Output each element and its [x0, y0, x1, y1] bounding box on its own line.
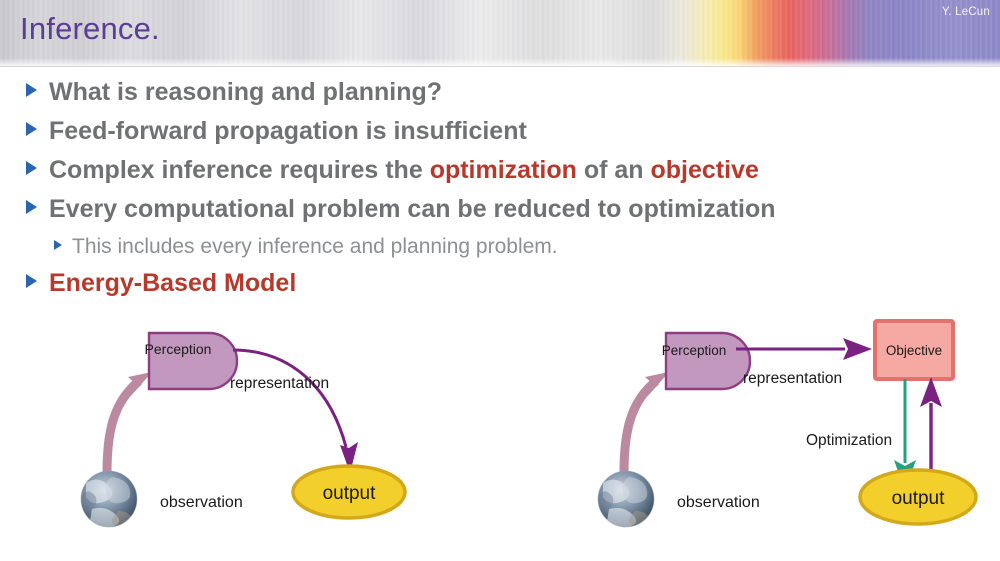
- bullet-text: Complex inference requires the optimizat…: [49, 152, 759, 189]
- node-perception-label: Perception: [145, 341, 212, 357]
- node-output[interactable]: output: [293, 466, 405, 518]
- bullet-item: Every computational problem can be reduc…: [0, 191, 1000, 228]
- representation-label: representation: [743, 370, 842, 387]
- author-credit: Y. LeCun: [942, 6, 990, 18]
- bullet-item: This includes every inference and planni…: [0, 230, 1000, 263]
- bullet-item: Energy-Based Model: [0, 265, 1000, 302]
- bullet-list: What is reasoning and planning?Feed-forw…: [0, 74, 1000, 304]
- node-objective[interactable]: Objective: [875, 321, 953, 379]
- bullet-triangle-icon: [26, 274, 37, 288]
- bullet-triangle-icon: [26, 161, 37, 175]
- bullet-text-segment: Energy-Based Model: [49, 269, 296, 297]
- header-divider: [0, 66, 1000, 67]
- representation-arrow: [233, 350, 358, 473]
- bullet-text: What is reasoning and planning?: [49, 74, 442, 111]
- bullet-text-segment: What is reasoning and planning?: [49, 78, 442, 106]
- bullet-text: Feed-forward propagation is insufficient: [49, 113, 527, 150]
- representation-arrow: [736, 338, 872, 360]
- bullet-text: This includes every inference and planni…: [72, 230, 558, 263]
- bullet-triangle-icon: [26, 83, 37, 97]
- bullet-item: What is reasoning and planning?: [0, 74, 1000, 111]
- node-perception-label: Perception: [662, 343, 727, 358]
- node-perception[interactable]: Perception: [662, 333, 750, 389]
- earth-globe-icon: [597, 471, 654, 529]
- observation-to-perception-arrow: [107, 372, 152, 473]
- earth-globe-icon: [80, 471, 137, 529]
- node-output[interactable]: output: [860, 470, 976, 524]
- bullet-text-segment: of an: [577, 156, 651, 184]
- bullet-triangle-icon: [26, 200, 37, 214]
- optimization-label: Optimization: [806, 432, 892, 449]
- page-title: Inference.: [20, 13, 160, 44]
- energy-based-inference-diagram: Perception representation Objective Opti…: [500, 305, 1000, 561]
- representation-label: representation: [230, 375, 329, 392]
- node-objective-label: Objective: [886, 343, 942, 358]
- bullet-text-segment: Complex inference requires the: [49, 156, 430, 184]
- bullet-text: Every computational problem can be reduc…: [49, 191, 776, 228]
- observation-label: observation: [677, 494, 760, 511]
- bullet-text-segment: Feed-forward propagation is insufficient: [49, 117, 527, 145]
- bullet-text: Energy-Based Model: [49, 265, 296, 302]
- observation-label: observation: [160, 494, 243, 511]
- bullet-item: Complex inference requires the optimizat…: [0, 152, 1000, 189]
- bullet-text-segment: objective: [651, 156, 759, 184]
- banner-bottom-fade: [0, 58, 1000, 66]
- node-output-label: output: [892, 488, 946, 509]
- bullet-text-segment: Every computational problem can be reduc…: [49, 195, 776, 223]
- bullet-item: Feed-forward propagation is insufficient: [0, 113, 1000, 150]
- node-perception[interactable]: Perception: [145, 333, 237, 389]
- bullet-triangle-icon: [54, 240, 62, 250]
- feed-forward-inference-diagram: Perception representation output obser: [0, 305, 500, 561]
- bullet-text-segment: optimization: [430, 156, 577, 184]
- bullet-text-segment: This includes every inference and planni…: [72, 235, 558, 258]
- bullet-triangle-icon: [26, 122, 37, 136]
- node-output-label: output: [323, 483, 377, 504]
- observation-to-perception-arrow: [624, 372, 669, 473]
